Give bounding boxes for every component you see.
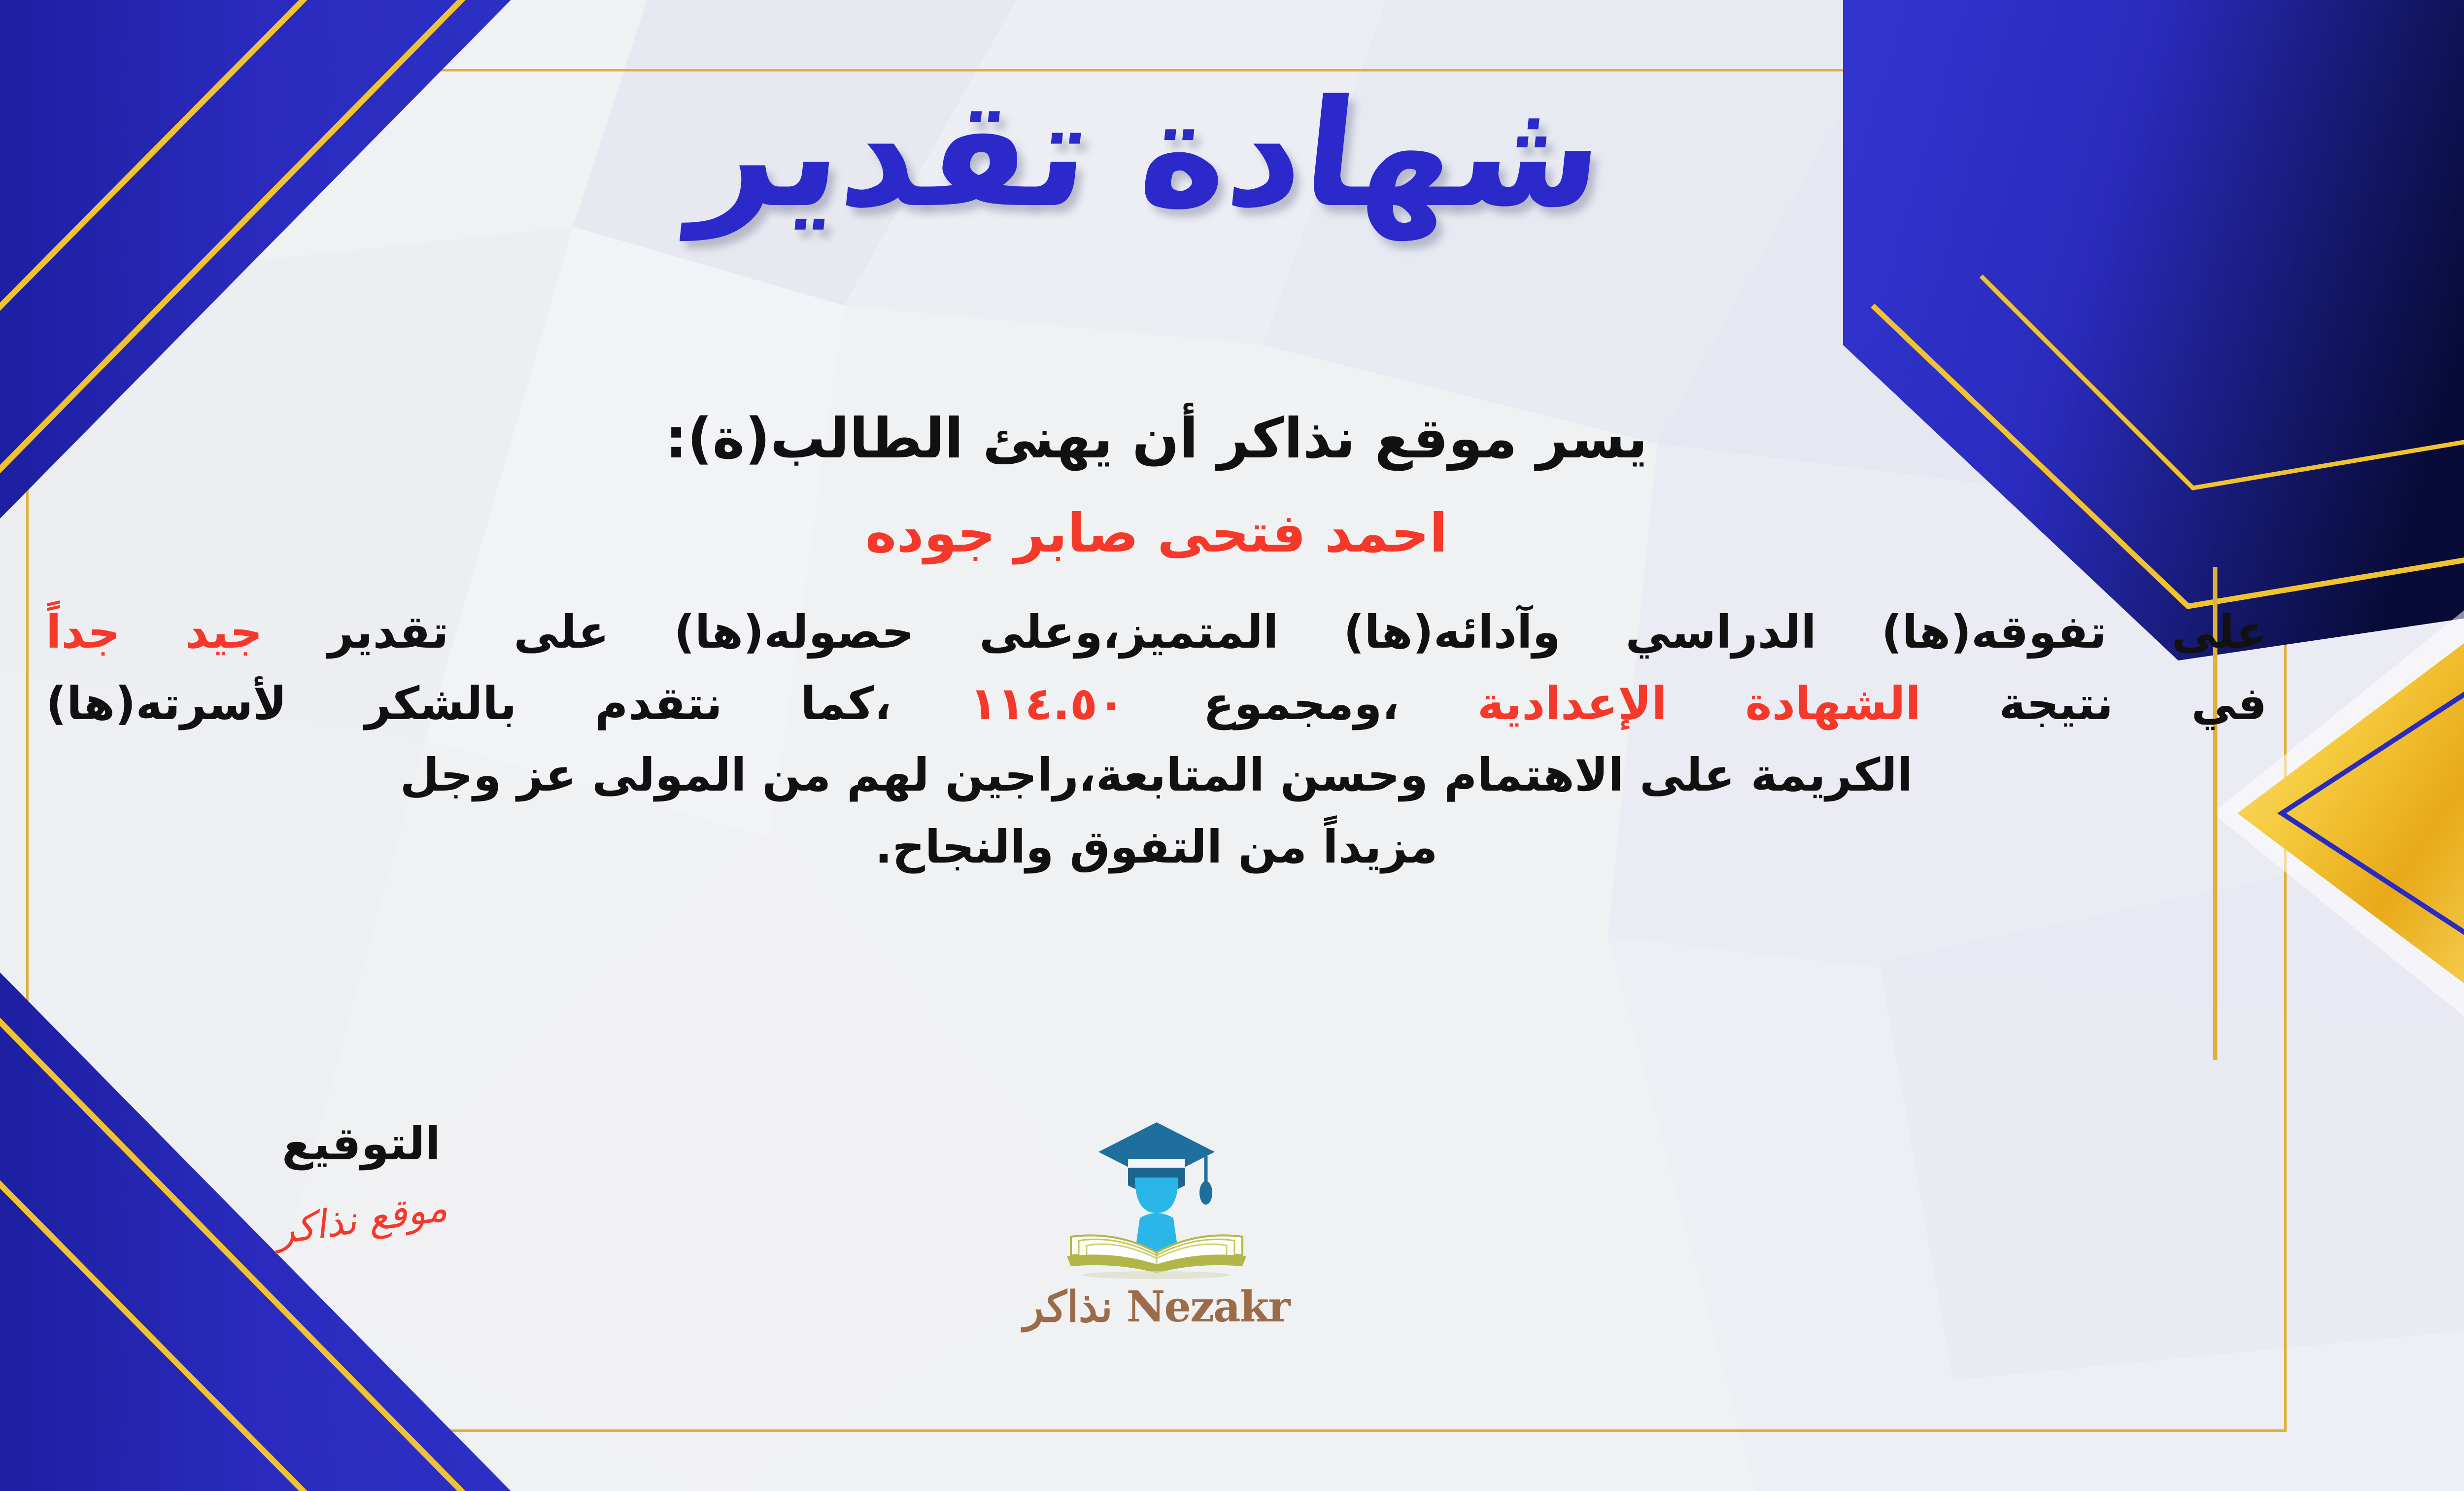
certificate-canvas: شهادة تقدير يسر موقع نذاكر أن يهنئ الطال… (0, 0, 2464, 1491)
line2-prefix: في نتيجة (1999, 677, 2267, 730)
signature-label: التوقيع (208, 1121, 514, 1167)
brand-logo: Nezakr نذاكر (984, 1116, 1329, 1332)
grade-value: جيد جداً (46, 606, 263, 659)
student-name: احمد فتحى صابر جوده (46, 502, 2267, 566)
signature-mark: موقع نذاكر (273, 1185, 449, 1253)
line2-middle: ،ومجموع (1203, 677, 1400, 730)
line2-suffix: ،كما نتقدم بالشكر لأسرته(ها) (46, 677, 891, 730)
certificate-footer: التوقيع موقع نذاكر (46, 1121, 2267, 1397)
line1-text: على تفوقه(ها) الدراسي وآدائه(ها) المتميز… (328, 606, 2267, 659)
total-score: ١١٤.٥٠ (970, 677, 1126, 730)
congratulation-line: يسر موقع نذاكر أن يهنئ الطالب(ة): (46, 404, 2267, 473)
exam-name: الشهادة الإعدادية (1477, 677, 1921, 730)
signature-block: التوقيع موقع نذاكر (208, 1121, 514, 1242)
paragraph-line-2: في نتيجة الشهادة الإعدادية ،ومجموع ١١٤.٥… (46, 668, 2267, 739)
page-title: شهادة تقدير (686, 69, 1612, 239)
achievement-paragraph: على تفوقه(ها) الدراسي وآدائه(ها) المتميز… (46, 596, 2267, 883)
title-container: شهادة تقدير (0, 69, 2464, 239)
paragraph-line-1: على تفوقه(ها) الدراسي وآدائه(ها) المتميز… (46, 596, 2267, 668)
paragraph-line-4: مزيداً من التفوق والنجاح. (46, 811, 2267, 883)
certificate-body: يسر موقع نذاكر أن يهنئ الطالب(ة): احمد ف… (46, 404, 2267, 883)
paragraph-line-3: الكريمة على الاهتمام وحسن المتابعة،راجين… (46, 739, 2267, 811)
brand-logo-text: Nezakr نذاكر (984, 1282, 1329, 1332)
graduate-book-logo-icon (1043, 1116, 1270, 1279)
